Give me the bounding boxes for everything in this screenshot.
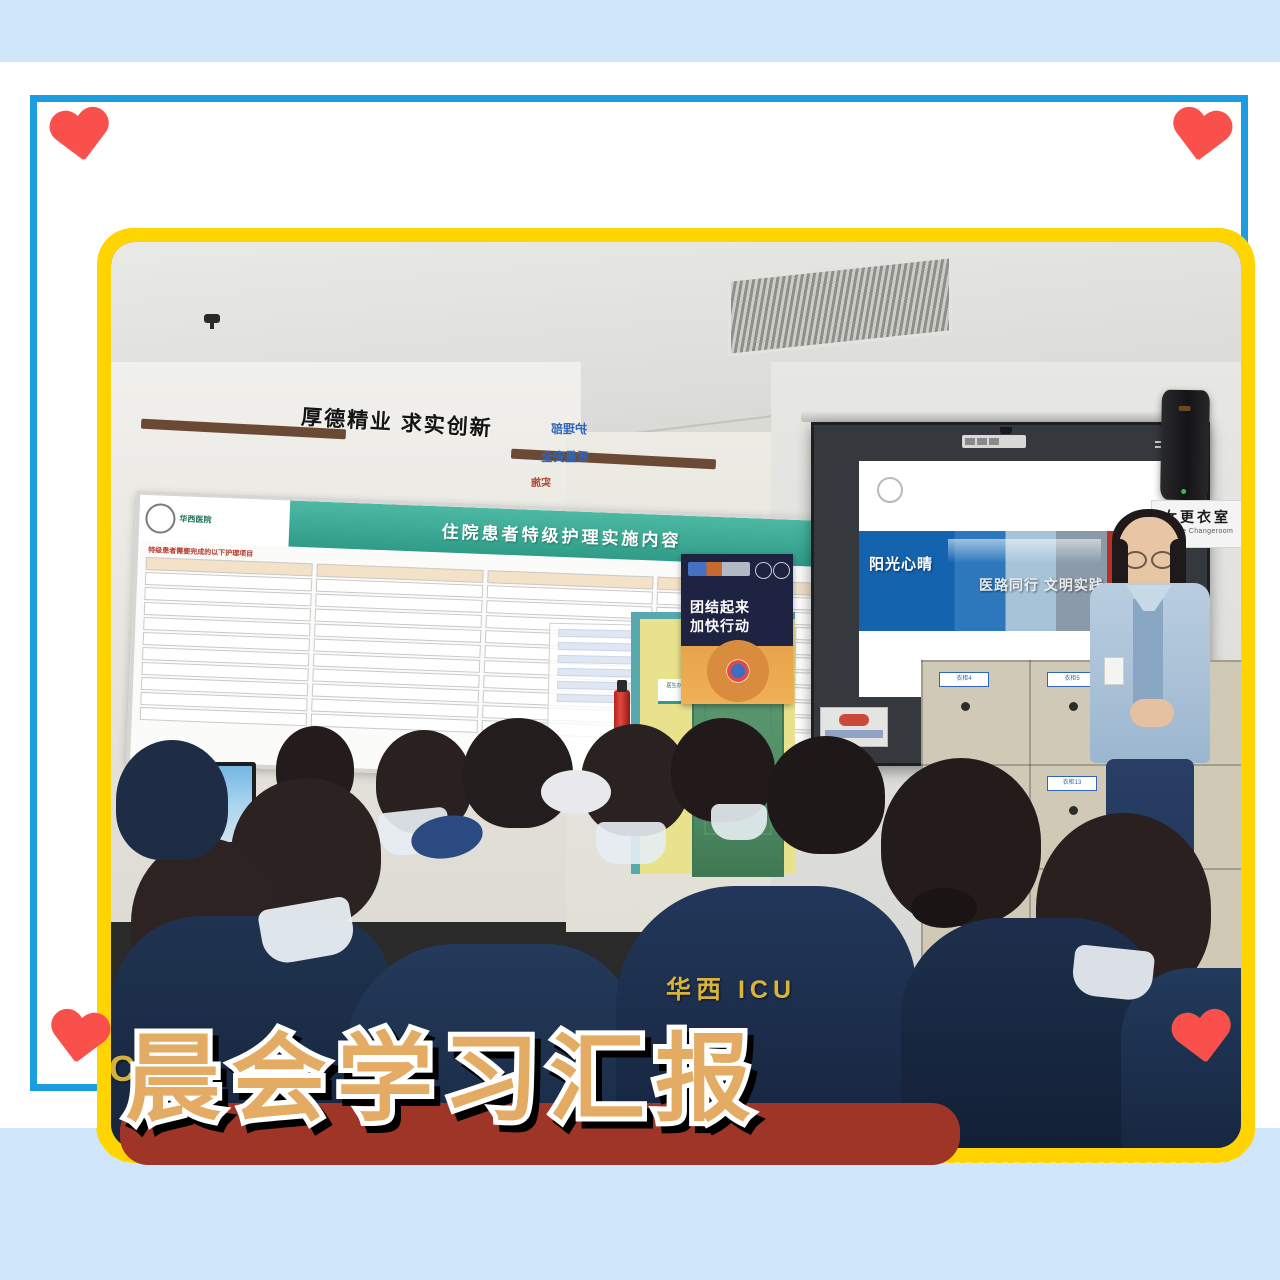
screenshot-root: 厚德精业 求实创新 华西医院 住院患者特级护理实施内容 特级患者需要完 [0, 0, 1280, 1280]
poster-badge-icon [755, 562, 772, 579]
speaker-led-icon [1181, 489, 1186, 494]
slide-circle-icon [877, 477, 903, 503]
attendee-head [767, 736, 885, 854]
hands-circle-icon [707, 640, 769, 702]
presenter-id-badge [1104, 657, 1124, 685]
poster-text: 团结起来 加快行动 [690, 598, 750, 636]
hair-clip [541, 770, 611, 814]
screen-toolbar [962, 435, 1026, 448]
who-logo-icon [688, 562, 750, 576]
heart-top-left-icon [46, 106, 115, 170]
glass-reflection-text-3: 实施 [531, 474, 551, 489]
heart-bottom-right-icon [1168, 1008, 1237, 1072]
toolbar-button-icon [965, 438, 975, 445]
photo-inner-frame: 厚德精业 求实创新 华西医院 住院患者特级护理实施内容 特级患者需要完 [99, 230, 1253, 1160]
hospital-logo: 华西医院 [145, 499, 296, 543]
logo-circle-icon [145, 503, 176, 534]
photo-scene: 厚德精业 求实创新 华西医院 住院患者特级护理实施内容 特级患者需要完 [111, 242, 1241, 1148]
ceiling-sprinkler-icon [204, 314, 220, 323]
poster-line-1: 团结起来 [690, 598, 750, 617]
toolbar-button-icon [989, 438, 999, 445]
glass-reflection-text-1: 护理部 [551, 420, 587, 437]
meeting-photo: 厚德精业 求实创新 华西医院 住院患者特级护理实施内容 特级患者需要完 [111, 242, 1241, 1148]
heart-bottom-left-icon [44, 1008, 113, 1072]
poster-line-2: 加快行动 [690, 617, 750, 636]
photo-outer-frame: 厚德精业 求实创新 华西医院 住院患者特级护理实施内容 特级患者需要完 [30, 95, 1248, 1091]
campaign-poster: 团结起来 加快行动 [681, 554, 793, 704]
hair-bow [911, 888, 977, 928]
face-mask [596, 822, 666, 864]
uniform-text-center: 华西 ICU [666, 970, 796, 1006]
wall-speaker-icon [1160, 390, 1210, 501]
glass-reflection-text-2: 质量安全 [541, 448, 589, 465]
locker-label-text: 衣柜4 [940, 673, 988, 685]
board-title: 住院患者特级护理实施内容 [441, 517, 682, 551]
presenter-glasses-icon [1124, 551, 1174, 565]
locker-knob-icon [1069, 702, 1078, 711]
slide-title: 阳光心晴 [869, 553, 933, 574]
attendee-torso [116, 740, 228, 860]
screen-camera-icon [1000, 427, 1012, 434]
toolbar-button-icon [977, 438, 987, 445]
poster-badge-icon [773, 562, 790, 579]
heart-top-right-icon [1166, 106, 1235, 170]
projector-screen-rail [801, 410, 1206, 422]
face-mask [711, 804, 767, 840]
title-text: 晨会学习汇报 [125, 1022, 995, 1137]
locker-label: 衣柜4 [939, 672, 989, 687]
board-logo-text: 华西医院 [179, 515, 211, 525]
locker-knob-icon [961, 702, 970, 711]
